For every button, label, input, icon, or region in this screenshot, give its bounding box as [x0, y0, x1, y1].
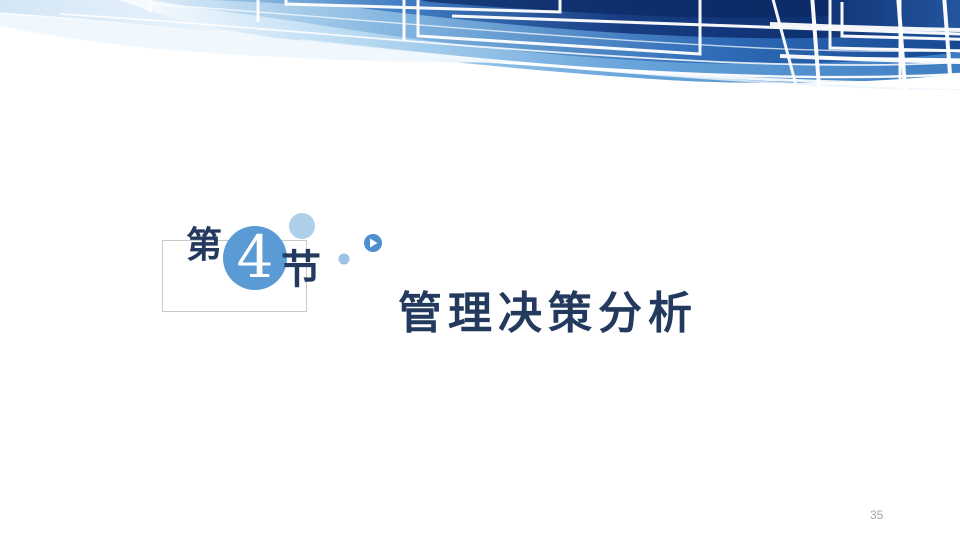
banner-highlight-line-4 — [300, 40, 960, 90]
banner-base-wash — [0, 0, 960, 79]
banner-bottom-edge-highlight — [0, 14, 960, 84]
banner-dark-slab — [210, 0, 960, 38]
banner-darkest-strip — [420, 0, 830, 18]
section-title: 管理决策分析 — [398, 292, 698, 336]
banner-pale-tail — [0, 14, 520, 63]
banner-left-wash — [0, 0, 470, 33]
banner-vertical-separators — [812, 0, 952, 100]
banner-horizontal-bands — [770, 24, 960, 62]
section-marker-graphic: 第 4 节 — [150, 195, 410, 325]
section-number-marker: 第 4 节 — [150, 195, 410, 325]
banner-highlight-line-2 — [60, 14, 960, 65]
banner-graphic — [0, 0, 960, 100]
slide-canvas: 第 4 节 管理决策分析 35 — [0, 0, 960, 540]
page-number: 35 — [870, 508, 883, 522]
banner-highlight-line-1 — [0, 26, 960, 77]
banner-grid-outlines — [150, 0, 960, 100]
banner-highlight-line-3 — [150, 4, 960, 51]
section-number-label: 4 — [237, 223, 274, 291]
section-suffix-label: 节 — [281, 246, 321, 293]
decor-large-dot — [289, 213, 315, 239]
decor-small-dot — [339, 254, 350, 265]
section-prefix-label: 第 — [186, 224, 222, 266]
decorative-banner — [0, 0, 960, 100]
banner-sweep-band — [120, 0, 960, 83]
banner-deep-band — [150, 0, 960, 64]
banner-bottom-curve-mask — [0, 18, 960, 100]
